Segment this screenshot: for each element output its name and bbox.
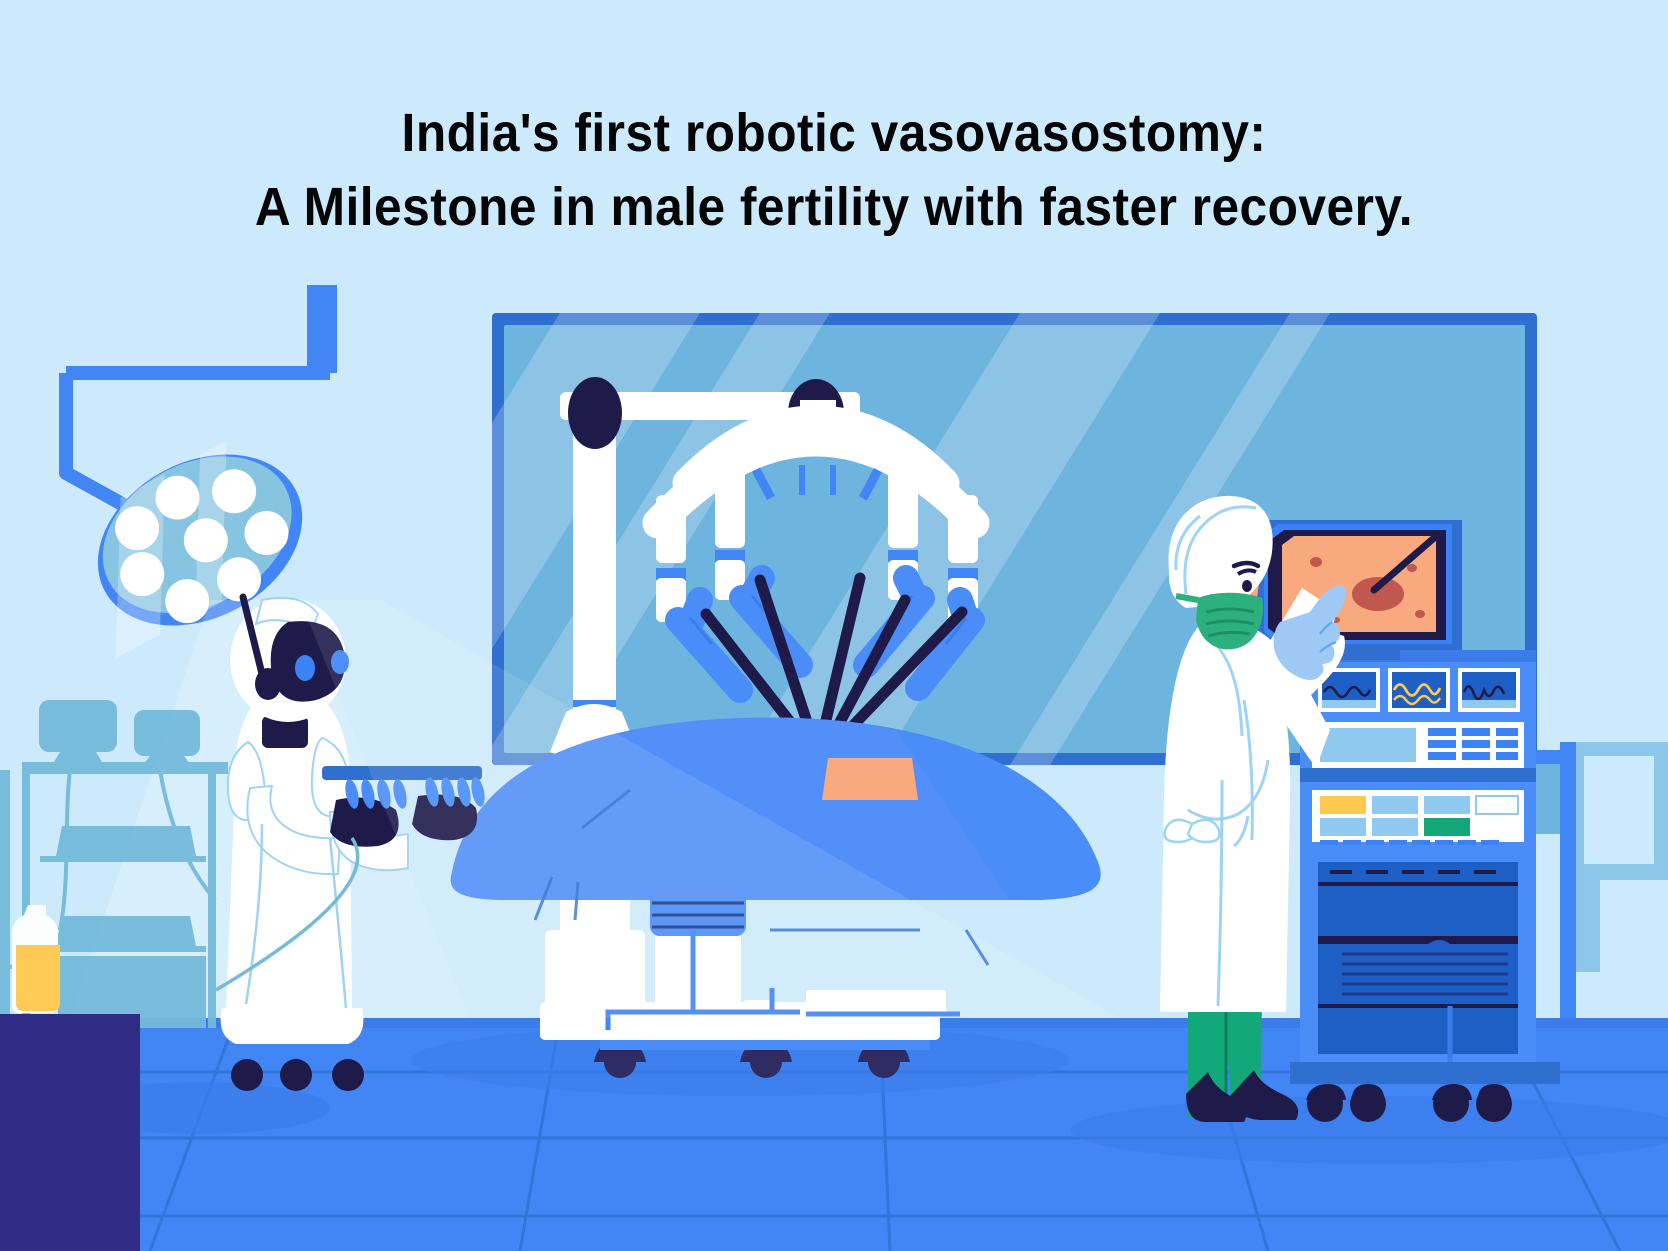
cart-base-rail bbox=[1290, 1062, 1560, 1084]
poster-canvas: India's first robotic vasovasostomy: A M… bbox=[0, 0, 1668, 1251]
control-panel bbox=[1312, 722, 1524, 768]
equipment-cart bbox=[1290, 650, 1560, 1122]
robot-wheels bbox=[231, 1059, 364, 1091]
fluid-bottle bbox=[12, 905, 60, 1013]
robot-base bbox=[221, 1008, 364, 1044]
operating-room-illustration bbox=[0, 0, 1668, 1251]
waveform-panels bbox=[1318, 668, 1520, 712]
cart-drawers bbox=[1318, 862, 1518, 1054]
status-tiles-panel bbox=[1312, 790, 1524, 845]
foreground-block bbox=[0, 1014, 140, 1251]
incision-site bbox=[822, 758, 918, 800]
